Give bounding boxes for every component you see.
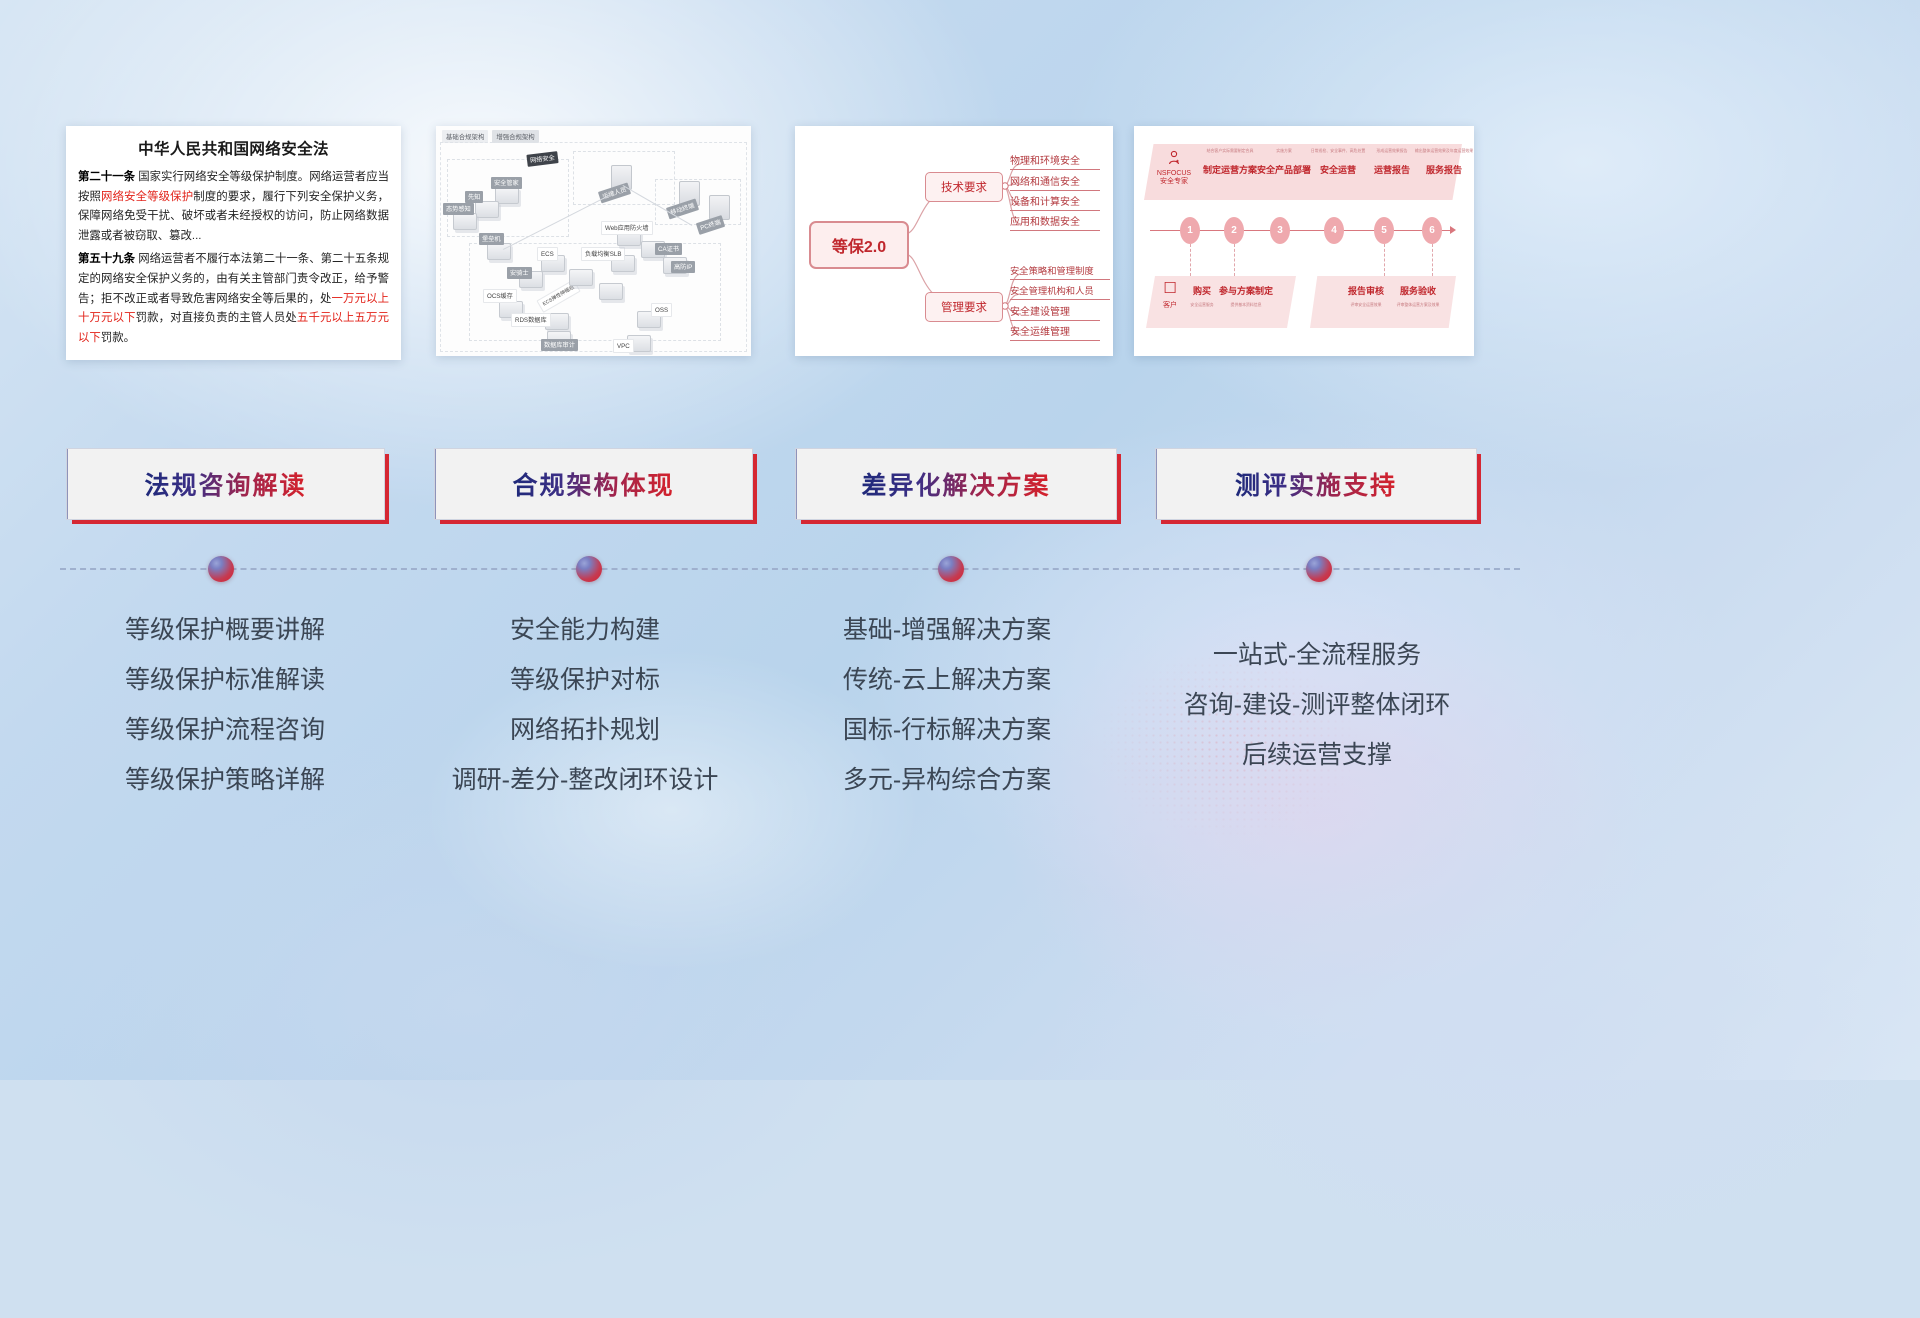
timeline-marker-1[interactable]: 1 — [1180, 217, 1200, 244]
category-button-regulation-consulting[interactable]: 法规咨询解读 — [66, 448, 385, 520]
category-button-differentiated-solution-label: 差异化解决方案 — [861, 466, 1050, 502]
timeline-diagram: NSFOCUS 安全专家 结合客户实际需要制定合具 制定运营方案 实施方案 安全… — [1134, 126, 1474, 356]
mindmap-branch-management[interactable]: 管理要求 — [925, 292, 1003, 322]
architecture-node-icon-2 — [475, 201, 499, 218]
timeline-marker-3[interactable]: 3 — [1270, 217, 1290, 244]
feature-list-column-4: 一站式-全流程服务 咨询-建设-测评整体闭环 后续运营支撑 — [1132, 630, 1502, 780]
timeline-top-step-1-main: 制定运营方案 — [1200, 163, 1260, 176]
timeline-brand-subtitle: 安全专家 — [1152, 178, 1196, 187]
list-item: 一站式-全流程服务 — [1132, 630, 1502, 680]
architecture-node-icon-11 — [599, 283, 623, 300]
timeline-node-3[interactable] — [938, 556, 964, 582]
mindmap-branch-technical[interactable]: 技术要求 — [925, 172, 1003, 202]
list-item: 等级保护标准解读 — [40, 655, 410, 705]
architecture-node-label-vpc: VPC — [613, 339, 634, 353]
law-article-21: 第二十一条 国家实行网络安全等级保护制度。网络运营者应当按照网络安全等级保护制度… — [78, 168, 389, 246]
list-item: 传统-云上解决方案 — [762, 655, 1132, 705]
architecture-node-label-oss: OSS — [651, 303, 672, 317]
architecture-diagram: 基础合规架构 增强合规架构 网络安全 安全管家 先知 态势感知 — [436, 126, 751, 356]
mindmap-leaf-mgmt-1[interactable]: 安全策略和管理制度 — [1010, 263, 1110, 280]
architecture-node-icon-3 — [453, 213, 477, 230]
preview-cards-row: 中华人民共和国网络安全法 第二十一条 国家实行网络安全等级保护制度。网络运营者应… — [0, 126, 1920, 366]
list-item: 等级保护策略详解 — [40, 755, 410, 805]
mindmap-leaf-tech-3[interactable]: 设备和计算安全 — [1010, 193, 1100, 211]
list-item: 咨询-建设-测评整体闭环 — [1132, 680, 1502, 730]
mindmap-leaf-mgmt-3[interactable]: 安全建设管理 — [1010, 303, 1100, 321]
timeline-top-step-3-sub: 日常巡检、安全事件、高危处置 — [1308, 148, 1368, 154]
architecture-node-label-taishiganzhi: 态势感知 — [443, 203, 474, 215]
architecture-node-label-ecs: ECS — [537, 247, 558, 261]
law-article-21-label: 第二十一条 — [78, 171, 135, 183]
feature-list-column-2: 安全能力构建 等级保护对标 网络拓扑规划 调研-差分-整改闭环设计 — [400, 605, 770, 805]
category-buttons-row: 法规咨询解读 合规架构体现 差异化解决方案 测评实施支持 — [0, 448, 1920, 520]
architecture-node-label-slb: 负载均衡SLB — [581, 247, 625, 261]
law-article-59-text-2: 罚款，对直接负责的主管人员处 — [136, 312, 297, 324]
timeline-bottom-step-4[interactable]: 服务验收 评审整体运营方案及效果 — [1386, 284, 1450, 308]
timeline-axis-arrow-icon — [1450, 226, 1456, 234]
feature-list-column-3: 基础-增强解决方案 传统-云上解决方案 国标-行标解决方案 多元-异构综合方案 — [762, 605, 1132, 805]
category-button-regulation-consulting-label: 法规咨询解读 — [144, 466, 306, 502]
timeline-top-step-4-main: 运营报告 — [1362, 163, 1422, 176]
card-service-timeline[interactable]: NSFOCUS 安全专家 结合客户实际需要制定合具 制定运营方案 实施方案 安全… — [1134, 126, 1474, 356]
architecture-node-label-anquanguanjia: 安全管家 — [491, 177, 522, 189]
list-item: 安全能力构建 — [400, 605, 770, 655]
card-law-document[interactable]: 中华人民共和国网络安全法 第二十一条 国家实行网络安全等级保护制度。网络运营者应… — [66, 126, 401, 360]
list-item: 调研-差分-整改闭环设计 — [400, 755, 770, 805]
timeline-top-step-5[interactable]: 输出整体运营效果及年度运营效果 服务报告 — [1414, 148, 1474, 176]
architecture-node-label-gaofangip: 高防IP — [671, 261, 695, 273]
timeline-bottom-step-4-sub: 评审整体运营方案及效果 — [1386, 302, 1450, 308]
architecture-node-label-baoleiji: 堡垒机 — [479, 233, 504, 245]
list-item: 后续运营支撑 — [1132, 730, 1502, 780]
timeline-marker-2[interactable]: 2 — [1224, 217, 1244, 244]
law-title: 中华人民共和国网络安全法 — [78, 137, 389, 159]
timeline-bottom-step-2[interactable]: 参与方案制定 提供基本资料信息 — [1214, 284, 1278, 308]
law-article-59-text-3: 罚款。 — [101, 332, 135, 344]
architecture-node-label-ca: CA证书 — [655, 243, 682, 255]
architecture-node-label-ocs: OCS缓存 — [483, 289, 517, 303]
timeline-top-step-4[interactable]: 形成运营效果报告 运营报告 — [1362, 148, 1422, 176]
timeline-marker-5[interactable]: 5 — [1374, 217, 1394, 244]
timeline-stem-2 — [1234, 244, 1235, 276]
timeline-stem-5 — [1384, 244, 1385, 276]
timeline-provider-logo: NSFOCUS 安全专家 — [1152, 150, 1196, 187]
timeline-node-1[interactable] — [208, 556, 234, 582]
list-item: 网络拓扑规划 — [400, 705, 770, 755]
architecture-node-label-rds: RDS数据库 — [511, 313, 551, 327]
timeline-node-4[interactable] — [1306, 556, 1332, 582]
architecture-canvas: 网络安全 安全管家 先知 态势感知 堡垒机 安骑士 OCS缓存 RDS数据库 — [440, 142, 747, 352]
timeline-bottom-step-4-main: 服务验收 — [1386, 284, 1450, 297]
list-item: 等级保护对标 — [400, 655, 770, 705]
law-article-59: 第五十九条 网络运营者不履行本法第二十一条、第二十五条规定的网络安全保护义务的，… — [78, 250, 389, 348]
timeline-brand-name: NSFOCUS — [1152, 170, 1196, 179]
mindmap-diagram: 等保2.0 技术要求 管理要求 物理和环境安全 网络和通信安全 设备和计算安全 … — [795, 126, 1113, 356]
mindmap-leaf-tech-1[interactable]: 物理和环境安全 — [1010, 152, 1100, 170]
timeline-top-step-3[interactable]: 日常巡检、安全事件、高危处置 安全运营 — [1308, 148, 1368, 176]
architecture-node-label-dbaudit: 数据库审计 — [541, 339, 578, 351]
category-button-compliance-architecture-label: 合规架构体现 — [512, 466, 674, 502]
mindmap-leaf-tech-4[interactable]: 应用和数据安全 — [1010, 213, 1100, 231]
category-button-assessment-support[interactable]: 测评实施支持 — [1155, 448, 1477, 520]
timeline-bottom-step-2-main: 参与方案制定 — [1214, 284, 1278, 297]
category-button-assessment-support-label: 测评实施支持 — [1235, 466, 1397, 502]
architecture-node-label-anqishi: 安骑士 — [507, 267, 532, 279]
architecture-node-label-xianzhi: 先知 — [465, 191, 483, 203]
law-article-21-highlight: 网络安全等级保护 — [101, 191, 193, 203]
timeline-top-step-5-main: 服务报告 — [1414, 163, 1474, 176]
list-item: 等级保护概要讲解 — [40, 605, 410, 655]
timeline-bottom-step-2-sub: 提供基本资料信息 — [1214, 302, 1278, 308]
card-cloud-architecture[interactable]: 基础合规架构 增强合规架构 网络安全 安全管家 先知 态势感知 — [436, 126, 751, 356]
mindmap-leaf-mgmt-2[interactable]: 安全管理机构和人员 — [1010, 283, 1110, 300]
list-item: 多元-异构综合方案 — [762, 755, 1132, 805]
timeline-stem-1 — [1190, 244, 1191, 276]
timeline-top-step-2-main: 安全产品部署 — [1254, 163, 1314, 176]
list-item: 等级保护流程咨询 — [40, 705, 410, 755]
architecture-node-label-waf: Web应用防火墙 — [601, 221, 653, 235]
law-article-59-label: 第五十九条 — [78, 253, 135, 265]
category-button-differentiated-solution[interactable]: 差异化解决方案 — [795, 448, 1117, 520]
list-item: 国标-行标解决方案 — [762, 705, 1132, 755]
mindmap-root-node[interactable]: 等保2.0 — [809, 221, 909, 269]
architecture-node-icon-10 — [569, 269, 593, 286]
timeline-top-step-3-main: 安全运营 — [1308, 163, 1368, 176]
card-mindmap[interactable]: 等保2.0 技术要求 管理要求 物理和环境安全 网络和通信安全 设备和计算安全 … — [795, 126, 1113, 356]
mindmap-leaf-mgmt-4[interactable]: 安全运维管理 — [1010, 323, 1100, 341]
timeline-marker-6[interactable]: 6 — [1422, 217, 1442, 244]
person-star-icon — [1166, 150, 1182, 166]
feature-list-column-1: 等级保护概要讲解 等级保护标准解读 等级保护流程咨询 等级保护策略详解 — [40, 605, 410, 805]
timeline-top-step-2-sub: 实施方案 — [1254, 148, 1314, 154]
timeline-dashed-axis — [60, 568, 1520, 572]
law-document-body: 中华人民共和国网络安全法 第二十一条 国家实行网络安全等级保护制度。网络运营者应… — [66, 126, 401, 360]
category-button-compliance-architecture[interactable]: 合规架构体现 — [434, 448, 753, 520]
timeline-top-step-4-sub: 形成运营效果报告 — [1362, 148, 1422, 154]
timeline-top-step-1[interactable]: 结合客户实际需要制定合具 制定运营方案 — [1200, 148, 1260, 176]
list-item: 基础-增强解决方案 — [762, 605, 1132, 655]
timeline-marker-4[interactable]: 4 — [1324, 217, 1344, 244]
timeline-top-step-2[interactable]: 实施方案 安全产品部署 — [1254, 148, 1314, 176]
timeline-node-2[interactable] — [576, 556, 602, 582]
timeline-top-step-1-sub: 结合客户实际需要制定合具 — [1200, 148, 1260, 154]
timeline-top-step-5-sub: 输出整体运营效果及年度运营效果 — [1414, 148, 1474, 154]
timeline-stem-6 — [1432, 244, 1433, 276]
mindmap-leaf-tech-2[interactable]: 网络和通信安全 — [1010, 173, 1100, 191]
